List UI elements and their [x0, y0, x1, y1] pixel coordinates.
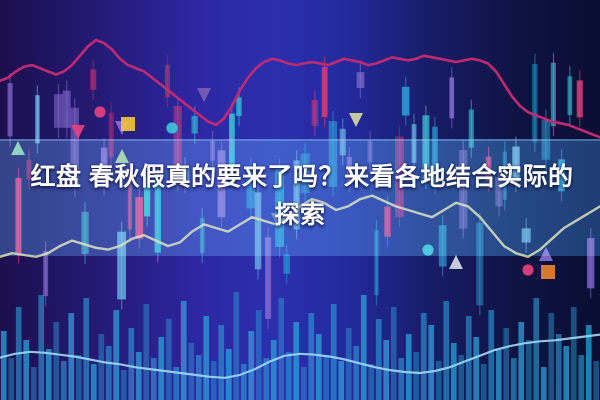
- title-line-1: 红盘 春秋假真的要来了吗？来看各地结合实际的: [27, 158, 574, 196]
- highlight-band-edge: [0, 139, 600, 141]
- title-block: 红盘 春秋假真的要来了吗？来看各地结合实际的 探索: [0, 158, 600, 254]
- market-banner-image: 红盘 春秋假真的要来了吗？来看各地结合实际的 探索: [0, 0, 600, 400]
- title-line-2: 探索: [274, 196, 325, 234]
